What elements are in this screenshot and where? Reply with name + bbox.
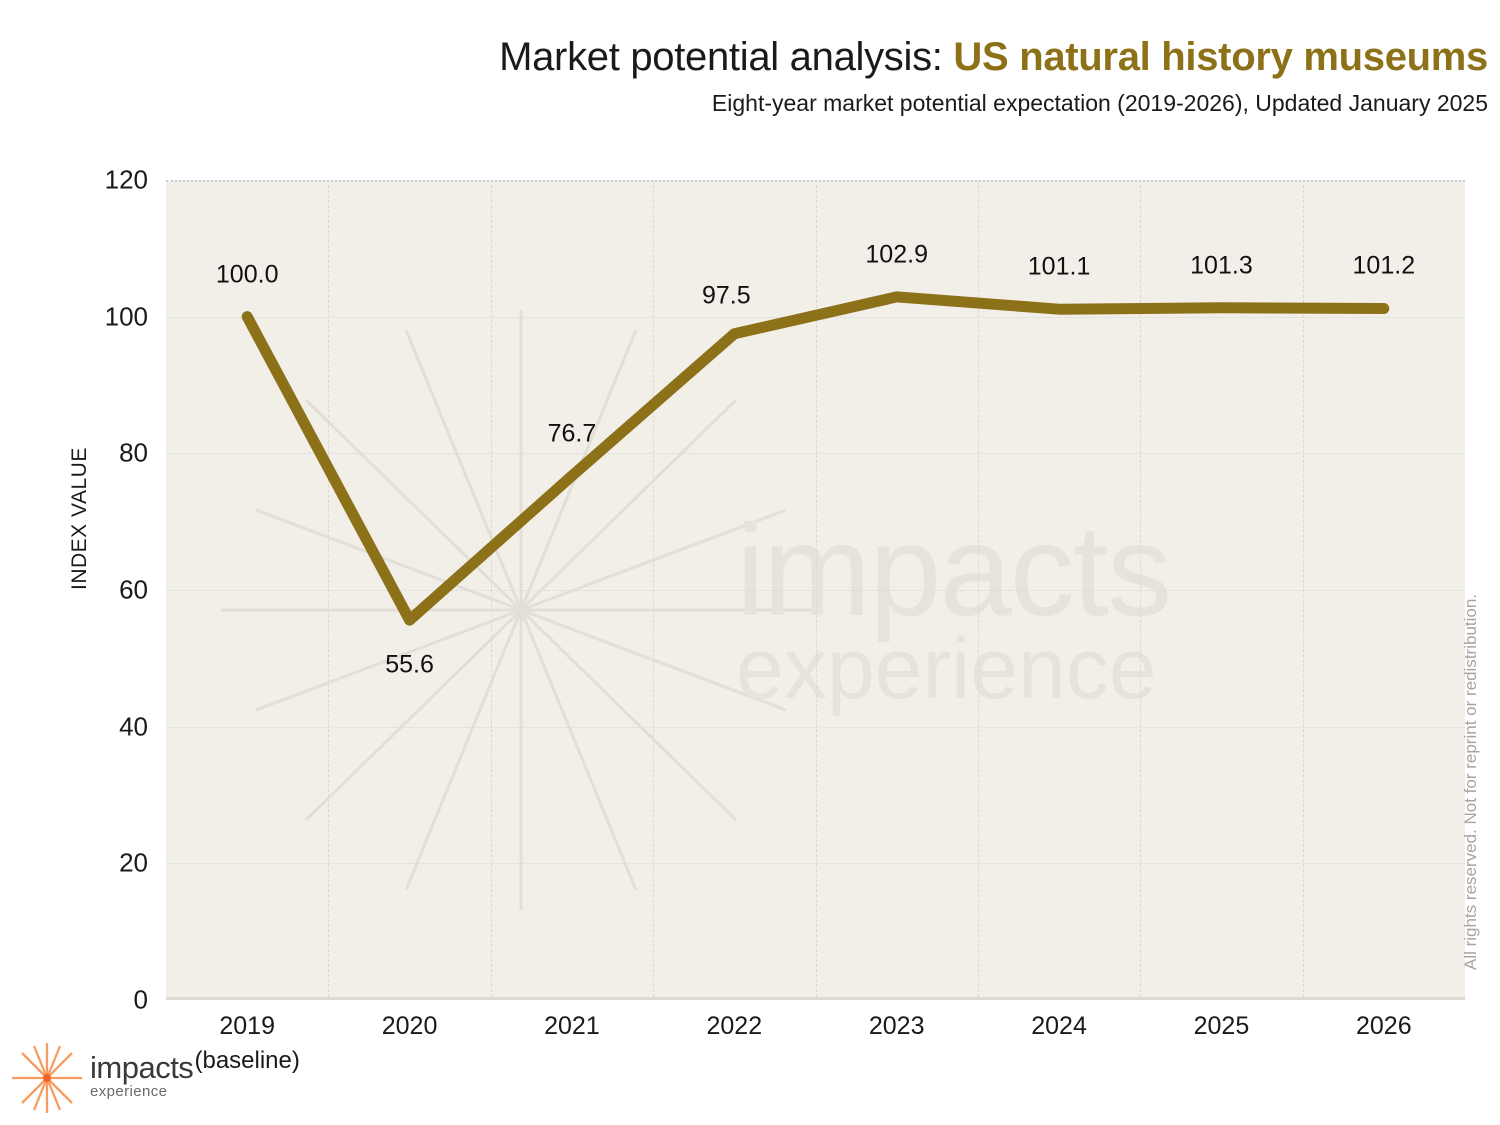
logo-subtitle: experience xyxy=(90,1083,193,1101)
y-axis-title: INDEX VALUE xyxy=(68,447,92,590)
x-axis-tick-year: 2023 xyxy=(869,1012,925,1040)
chart-page: Market potential analysis: US natural hi… xyxy=(0,0,1500,1125)
title-block: Market potential analysis: US natural hi… xyxy=(0,32,1500,118)
y-axis-tick-label: 120 xyxy=(28,165,148,196)
y-axis-tick-label: 40 xyxy=(28,711,148,742)
data-point-label: 101.3 xyxy=(1190,251,1253,280)
y-axis-tick-label: 100 xyxy=(28,301,148,332)
data-point-label: 101.2 xyxy=(1353,252,1416,281)
page-title: Market potential analysis: US natural hi… xyxy=(0,32,1488,82)
data-point-label: 101.1 xyxy=(1028,253,1091,282)
x-axis-tick-year: 2022 xyxy=(707,1012,763,1040)
gridline-vertical xyxy=(816,180,817,997)
logo-name: impacts xyxy=(90,1053,193,1083)
logo-text: impacts experience xyxy=(90,1053,193,1101)
watermark-text-impacts: impacts xyxy=(736,495,1170,645)
data-point-label: 97.5 xyxy=(702,281,751,310)
x-axis-tick-year: 2026 xyxy=(1356,1012,1412,1040)
brand-logo: impacts experience xyxy=(8,1039,208,1117)
x-axis-tick-year: 2024 xyxy=(1031,1012,1087,1040)
starburst-icon xyxy=(10,1041,84,1115)
x-axis-tick-label: 2026 xyxy=(1284,1012,1484,1041)
title-prefix: Market potential analysis: xyxy=(499,35,953,79)
data-point-label: 102.9 xyxy=(865,240,928,269)
gridline-vertical xyxy=(328,180,329,997)
gridline-vertical xyxy=(1303,180,1304,997)
data-point-label: 55.6 xyxy=(385,651,434,680)
y-axis-tick-label: 20 xyxy=(28,848,148,879)
gridline-vertical xyxy=(978,180,979,997)
title-accent: US natural history museums xyxy=(953,35,1488,79)
x-axis-tick-year: 2025 xyxy=(1194,1012,1250,1040)
page-subtitle: Eight-year market potential expectation … xyxy=(0,88,1488,118)
x-axis-tick-year: 2020 xyxy=(382,1012,438,1040)
gridline-vertical xyxy=(491,180,492,997)
plot-area: impacts experience xyxy=(166,180,1465,1000)
rights-notice: All rights reserved. Not for reprint or … xyxy=(1461,594,1481,970)
x-axis-tick-year: 2019 xyxy=(219,1012,275,1040)
gridline-vertical xyxy=(1140,180,1141,997)
data-point-label: 100.0 xyxy=(216,260,279,289)
x-axis-tick-year: 2021 xyxy=(544,1012,600,1040)
watermark-text-experience: experience xyxy=(736,620,1157,719)
gridline-vertical xyxy=(653,180,654,997)
data-point-label: 76.7 xyxy=(548,419,597,448)
y-axis-tick-label: 0 xyxy=(28,985,148,1016)
